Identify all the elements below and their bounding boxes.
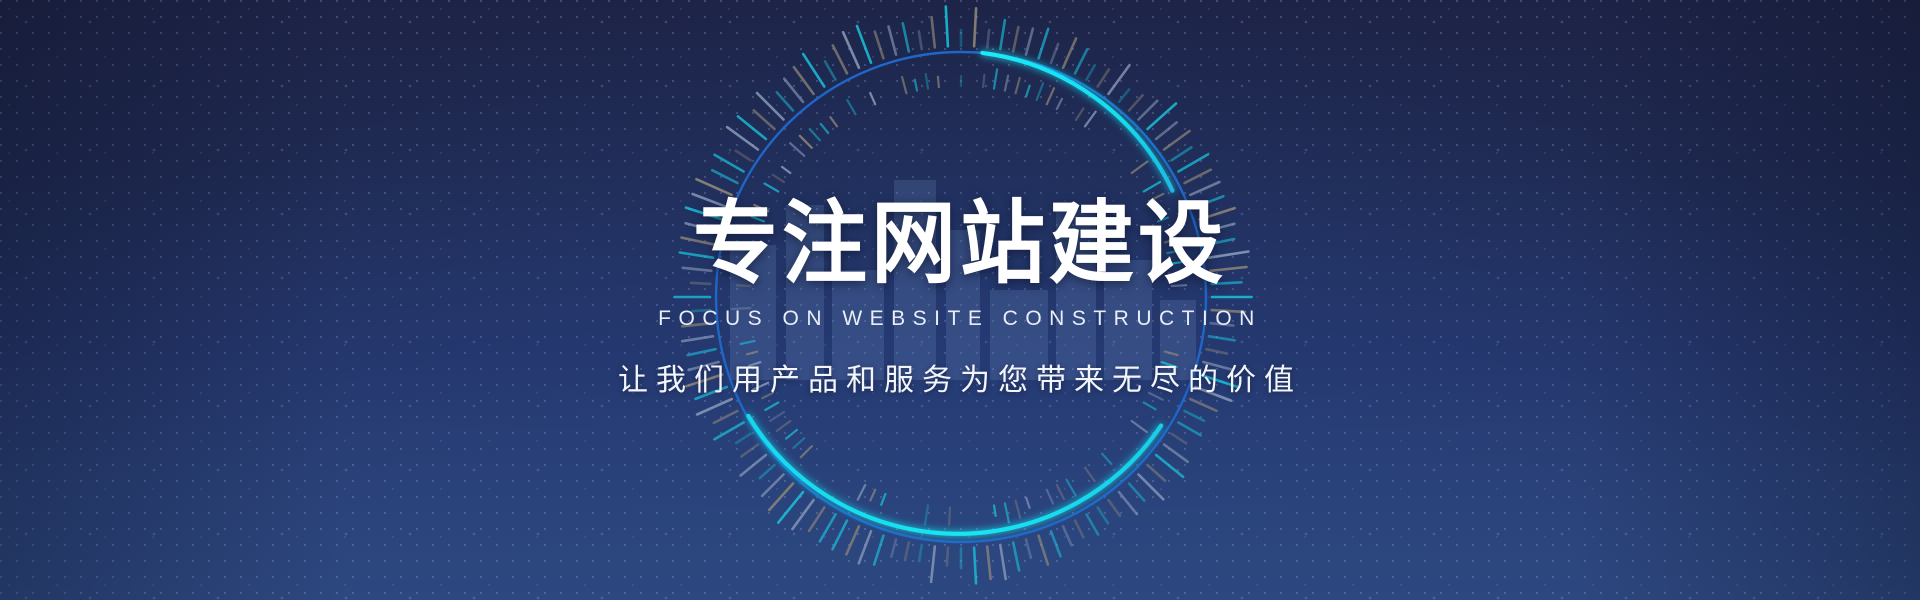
tagline-chinese: 让我们用产品和服务为您带来无尽的价值 xyxy=(618,355,1302,399)
hero-content: 专注网站建设 FOCUS ON WEBSITE CONSTRUCTION 让我们… xyxy=(0,0,1920,600)
hero-banner: 专注网站建设 FOCUS ON WEBSITE CONSTRUCTION 让我们… xyxy=(0,0,1920,600)
page-title: 专注网站建设 xyxy=(693,199,1227,289)
subtitle-english: FOCUS ON WEBSITE CONSTRUCTION xyxy=(658,307,1262,331)
